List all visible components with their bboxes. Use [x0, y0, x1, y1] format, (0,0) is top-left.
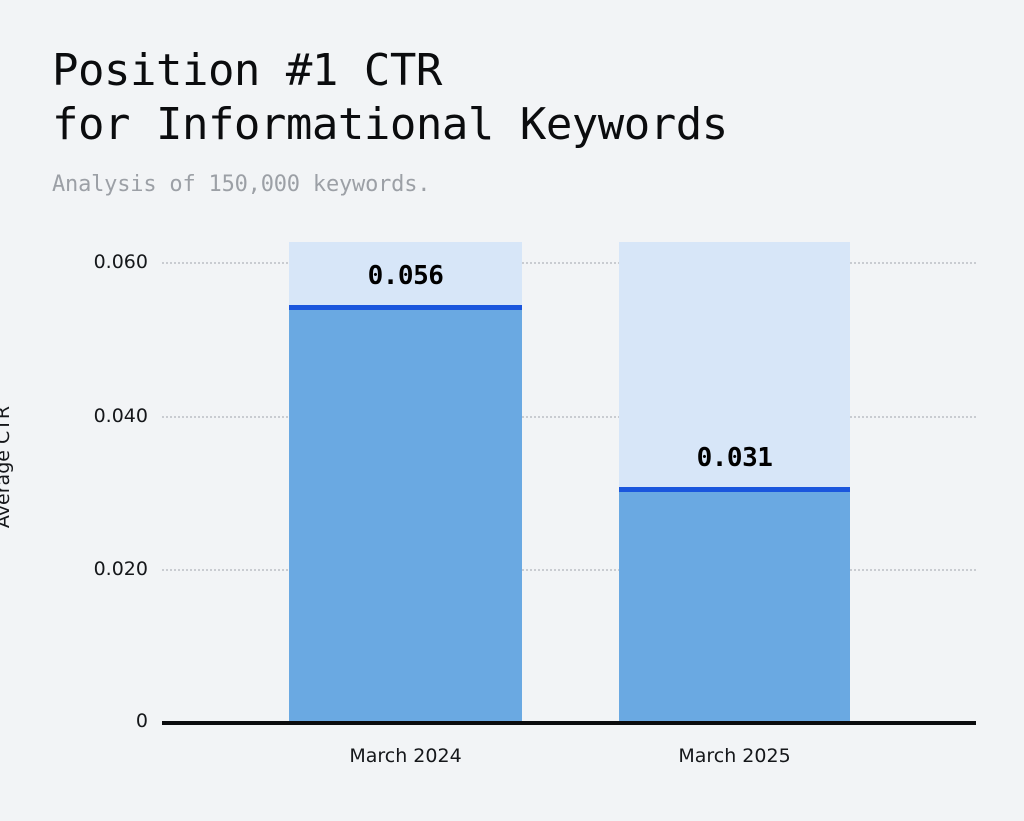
y-tick-label: 0.040 — [0, 405, 148, 427]
x-axis-label-march-2024: March 2024 — [289, 745, 522, 767]
chart-page: Position #1 CTR for Informational Keywor… — [0, 0, 1024, 821]
y-tick-label: 0 — [0, 710, 148, 732]
bar-fill-march-2025[interactable] — [619, 487, 850, 723]
gridline-0.020 — [162, 569, 976, 571]
x-axis-label-march-2025: March 2025 — [619, 745, 850, 767]
gridline-0.060 — [162, 262, 976, 264]
x-axis-line — [162, 721, 976, 725]
y-tick-label: 0.020 — [0, 558, 148, 580]
bar-fill-march-2024[interactable] — [289, 305, 522, 723]
gridline-0.040 — [162, 416, 976, 418]
plot-area: Average CTR 0.060 0.040 0.020 0 0.056 Ma… — [0, 0, 1024, 821]
y-tick-label: 0.060 — [0, 251, 148, 273]
bar-value-march-2024: 0.056 — [289, 261, 522, 291]
bar-value-march-2025: 0.031 — [619, 443, 850, 473]
